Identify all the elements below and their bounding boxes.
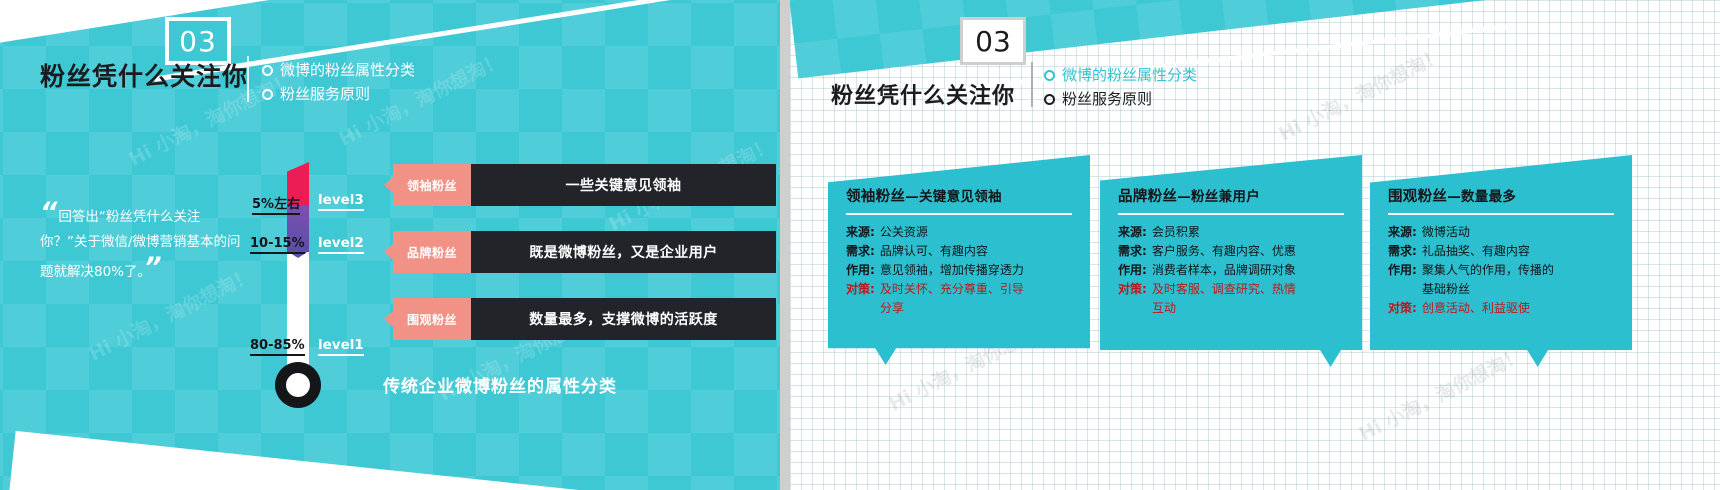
chart-caption: 传统企业微博粉丝的属性分类 [383,372,617,397]
slide-pair-canvas: Hi 小淘，淘你想淘！ Hi 小淘，淘你想淘！ Hi 小淘，淘你想淘！ Hi 小… [0,0,1720,490]
card-rule [846,213,1072,215]
row-label: 需求: [1388,242,1417,261]
segment-tag-3: 围观粉丝 [393,298,471,340]
row-label: 作用: [1388,261,1417,280]
card-row-need: 需求: 礼品抽奖、有趣内容 [1388,242,1614,261]
card-row-source: 来源: 微博活动 [1388,223,1614,242]
page-title: 粉丝凭什么关注你 [40,57,248,93]
row-label: 需求: [846,242,875,261]
agenda-item-2[interactable]: 粉丝服务原则 [262,82,415,106]
segment-desc-2: 既是微博粉丝，又是企业用户 [471,231,776,273]
row-value: 创意活动、利益驱使 [1422,299,1530,318]
segment-row-3[interactable]: 围观粉丝 数量最多，支撑微博的活跃度 [393,298,776,340]
row-value: 品牌认可、有趣内容 [880,242,988,261]
row-value: 及时客服、调查研究、热情 [1152,280,1296,299]
right-slide: Hi 小淘，淘你想淘！ Hi 小淘，淘你想淘！ Hi 小淘，淘你想淘！ 03 粉… [790,0,1720,490]
card-row-role: 作用: 意见领袖，增加传播穿透力 [846,261,1072,280]
agenda-item-label: 粉丝服务原则 [1062,87,1152,111]
agenda-list: 微博的粉丝属性分类 粉丝服务原则 [1044,63,1197,111]
fan-type-card-3[interactable]: 围观粉丝—数量最多 来源: 微博活动 需求: 礼品抽奖、有趣内容 作用: 聚集人… [1370,155,1632,367]
segment-tag-1: 领袖粉丝 [393,164,471,206]
row-label: 作用: [1118,261,1147,280]
card-row-role: 作用: 消费者样本，品牌调研对象 [1118,261,1344,280]
card-title-sub: —粉丝兼用户 [1177,189,1260,205]
agenda-item-2[interactable]: 粉丝服务原则 [1044,87,1197,111]
header-divider [1031,62,1033,107]
card-title-2: 品牌粉丝—粉丝兼用户 [1118,185,1344,206]
card-row-source: 来源: 会员积累 [1118,223,1344,242]
card-title-main: 围观粉丝 [1388,189,1447,205]
row-value: 公关资源 [880,223,928,242]
card-row-role: 作用: 聚集人气的作用，传播的 [1388,261,1614,280]
agenda-item-label: 粉丝服务原则 [280,82,370,106]
card-row-source: 来源: 公关资源 [846,223,1072,242]
card-row-strategy: 对策: 及时关怀、充分尊重、引导 [846,280,1072,299]
circle-outline-icon [262,65,273,76]
row-value: 微博活动 [1422,223,1470,242]
agenda-item-1[interactable]: 微博的粉丝属性分类 [262,58,415,82]
row-label: 来源: [1388,223,1417,242]
card-title-main: 品牌粉丝 [1118,189,1177,205]
agenda-item-1[interactable]: 微博的粉丝属性分类 [1044,63,1197,87]
segment-row-2[interactable]: 品牌粉丝 既是微博粉丝，又是企业用户 [393,231,776,273]
circle-outline-icon [1044,94,1055,105]
segment-tag-2: 品牌粉丝 [393,231,471,273]
row-label: 作用: [846,261,875,280]
agenda-item-label: 微博的粉丝属性分类 [280,58,415,82]
row-label: 来源: [1118,223,1147,242]
quote-close-mark: ” [144,252,159,283]
card-rule [1388,213,1614,215]
thermometer-bulb [275,362,321,408]
agenda-list: 微博的粉丝属性分类 粉丝服务原则 [262,58,415,106]
page-title: 粉丝凭什么关注你 [831,78,1015,110]
card-title-sub: —数量最多 [1447,189,1516,205]
row-value: 及时关怀、充分尊重、引导 [880,280,1024,299]
card-title-3: 围观粉丝—数量最多 [1388,185,1614,206]
card-row-need: 需求: 品牌认可、有趣内容 [846,242,1072,261]
quote-block: “回答出“粉丝凭什么关注你？”关于微信/微博营销基本的问题就解决80%了。” [40,200,245,285]
thermometer-pct-level2: 10-15% [250,236,305,254]
card-row-strategy: 对策: 创意活动、利益驱使 [1388,299,1614,318]
thermometer-level-label-1: level1 [318,337,364,356]
circle-outline-icon [262,89,273,100]
circle-outline-icon [1044,70,1055,81]
segment-desc-3: 数量最多，支撑微博的活跃度 [471,298,776,340]
card-title-sub: —关键意见领袖 [905,189,1002,205]
card-title-main: 领袖粉丝 [846,189,905,205]
quote-open-mark: “ [40,197,55,228]
row-label: 对策: [1388,299,1417,318]
card-row-strategy: 对策: 及时客服、调查研究、热情 [1118,280,1344,299]
card-row-strategy-continuation: 分享 [846,299,1072,318]
row-value: 消费者样本，品牌调研对象 [1152,261,1296,280]
thermometer-level-label-3: level3 [318,192,364,211]
card-title-1: 领袖粉丝—关键意见领袖 [846,185,1072,206]
thermometer-pct-level1: 80-85% [250,338,305,356]
row-value: 会员积累 [1152,223,1200,242]
segment-desc-1: 一些关键意见领袖 [471,164,776,206]
left-slide: Hi 小淘，淘你想淘！ Hi 小淘，淘你想淘！ Hi 小淘，淘你想淘！ Hi 小… [0,0,780,490]
segment-row-1[interactable]: 领袖粉丝 一些关键意见领袖 [393,164,776,206]
row-value: 礼品抽奖、有趣内容 [1422,242,1530,261]
row-label: 来源: [846,223,875,242]
thermometer-tip [287,162,309,186]
row-label: 对策: [846,280,875,299]
row-value: 客户服务、有趣内容、优惠 [1152,242,1296,261]
section-number-badge: 03 [960,17,1026,65]
card-row-need: 需求: 客户服务、有趣内容、优惠 [1118,242,1344,261]
card-row-strategy-continuation: 互动 [1118,299,1344,318]
thermometer-pct-level3: 5%左右 [252,193,300,215]
card-row-role-continuation: 基础粉丝 [1388,280,1614,299]
fan-type-card-1[interactable]: 领袖粉丝—关键意见领袖 来源: 公关资源 需求: 品牌认可、有趣内容 作用: 意… [828,155,1090,365]
agenda-item-label: 微博的粉丝属性分类 [1062,63,1197,87]
quote-text: 回答出“粉丝凭什么关注你？”关于微信/微博营销基本的问题就解决80%了。 [40,209,241,280]
card-rule [1118,213,1344,215]
thermometer-level-label-2: level2 [318,235,364,254]
fan-type-card-2[interactable]: 品牌粉丝—粉丝兼用户 来源: 会员积累 需求: 客户服务、有趣内容、优惠 作用:… [1100,155,1362,367]
row-label: 对策: [1118,280,1147,299]
row-value: 聚集人气的作用，传播的 [1422,261,1554,280]
row-label: 需求: [1118,242,1147,261]
row-value: 意见领袖，增加传播穿透力 [880,261,1024,280]
